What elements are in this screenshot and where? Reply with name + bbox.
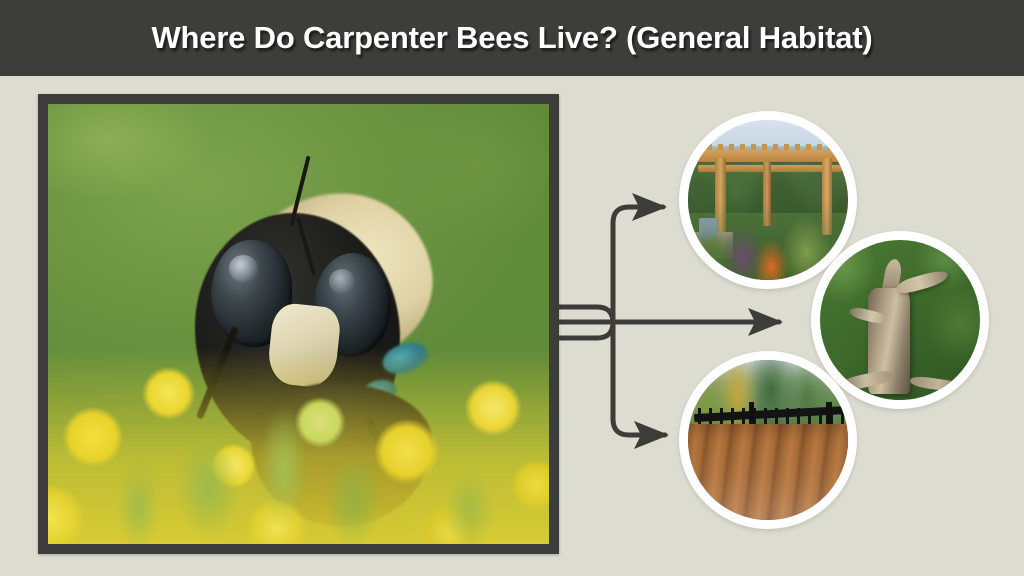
slide-canvas: Where Do Carpenter Bees Live? (General H…	[0, 0, 1024, 576]
thumbnail-deck[interactable]	[679, 351, 857, 529]
arrow-to-pergola	[556, 207, 663, 338]
carpenter-bee-photo	[48, 104, 549, 544]
page-title: Where Do Carpenter Bees Live? (General H…	[151, 20, 872, 56]
deck-image	[688, 360, 848, 520]
deck-art	[688, 360, 848, 520]
flower-stems	[48, 359, 549, 544]
deck-floor-boards	[688, 424, 848, 520]
arrow-to-deck	[556, 307, 665, 435]
header-bar: Where Do Carpenter Bees Live? (General H…	[0, 0, 1024, 76]
main-photo-frame	[38, 94, 559, 554]
